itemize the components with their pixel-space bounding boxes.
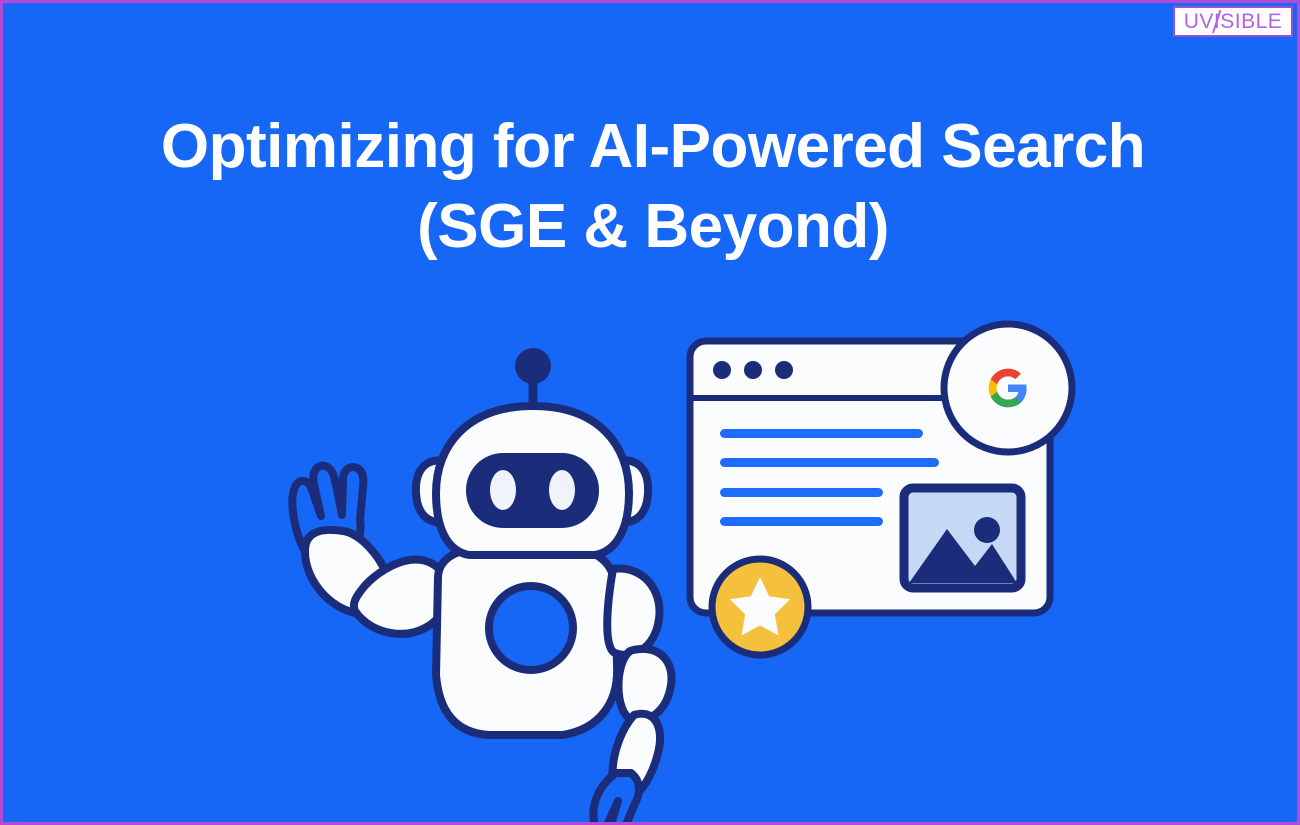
robot-left-eye [490, 470, 516, 510]
robot-left-ear [416, 460, 447, 522]
robot-right-ear [617, 460, 648, 522]
robot-left-forearm [305, 530, 390, 614]
title-line-2: (SGE & Beyond) [3, 187, 1300, 267]
image-placeholder [904, 488, 1021, 588]
title-line-1: Optimizing for AI-Powered Search [3, 107, 1300, 187]
robot-head [436, 406, 629, 555]
robot-right-hand [593, 773, 639, 825]
robot-left-upperarm [354, 560, 448, 634]
logo-text: UVISIBLE [1184, 11, 1283, 32]
robot-right-eye [549, 470, 575, 510]
browser-dots [713, 361, 793, 379]
robot-right-shoulder [607, 569, 659, 655]
robot-neck [503, 528, 561, 558]
robot-right-upperarm [618, 649, 671, 721]
robot [292, 348, 671, 825]
robot-torso [436, 549, 617, 735]
browser-window [690, 341, 1050, 613]
banner-canvas: Optimizing for AI-Powered Search (SGE & … [0, 0, 1300, 825]
content-lines [720, 429, 939, 526]
robot-antenna-ball [515, 348, 551, 384]
robot-waving-hand [292, 466, 363, 548]
google-badge [944, 324, 1072, 452]
page-title: Optimizing for AI-Powered Search (SGE & … [3, 107, 1300, 267]
robot-right-forearm [612, 714, 660, 800]
robot-visor [466, 453, 599, 528]
uvisible-logo[interactable]: UVISIBLE [1173, 6, 1293, 37]
star-badge [712, 559, 808, 655]
robot-torso-port [489, 586, 573, 670]
